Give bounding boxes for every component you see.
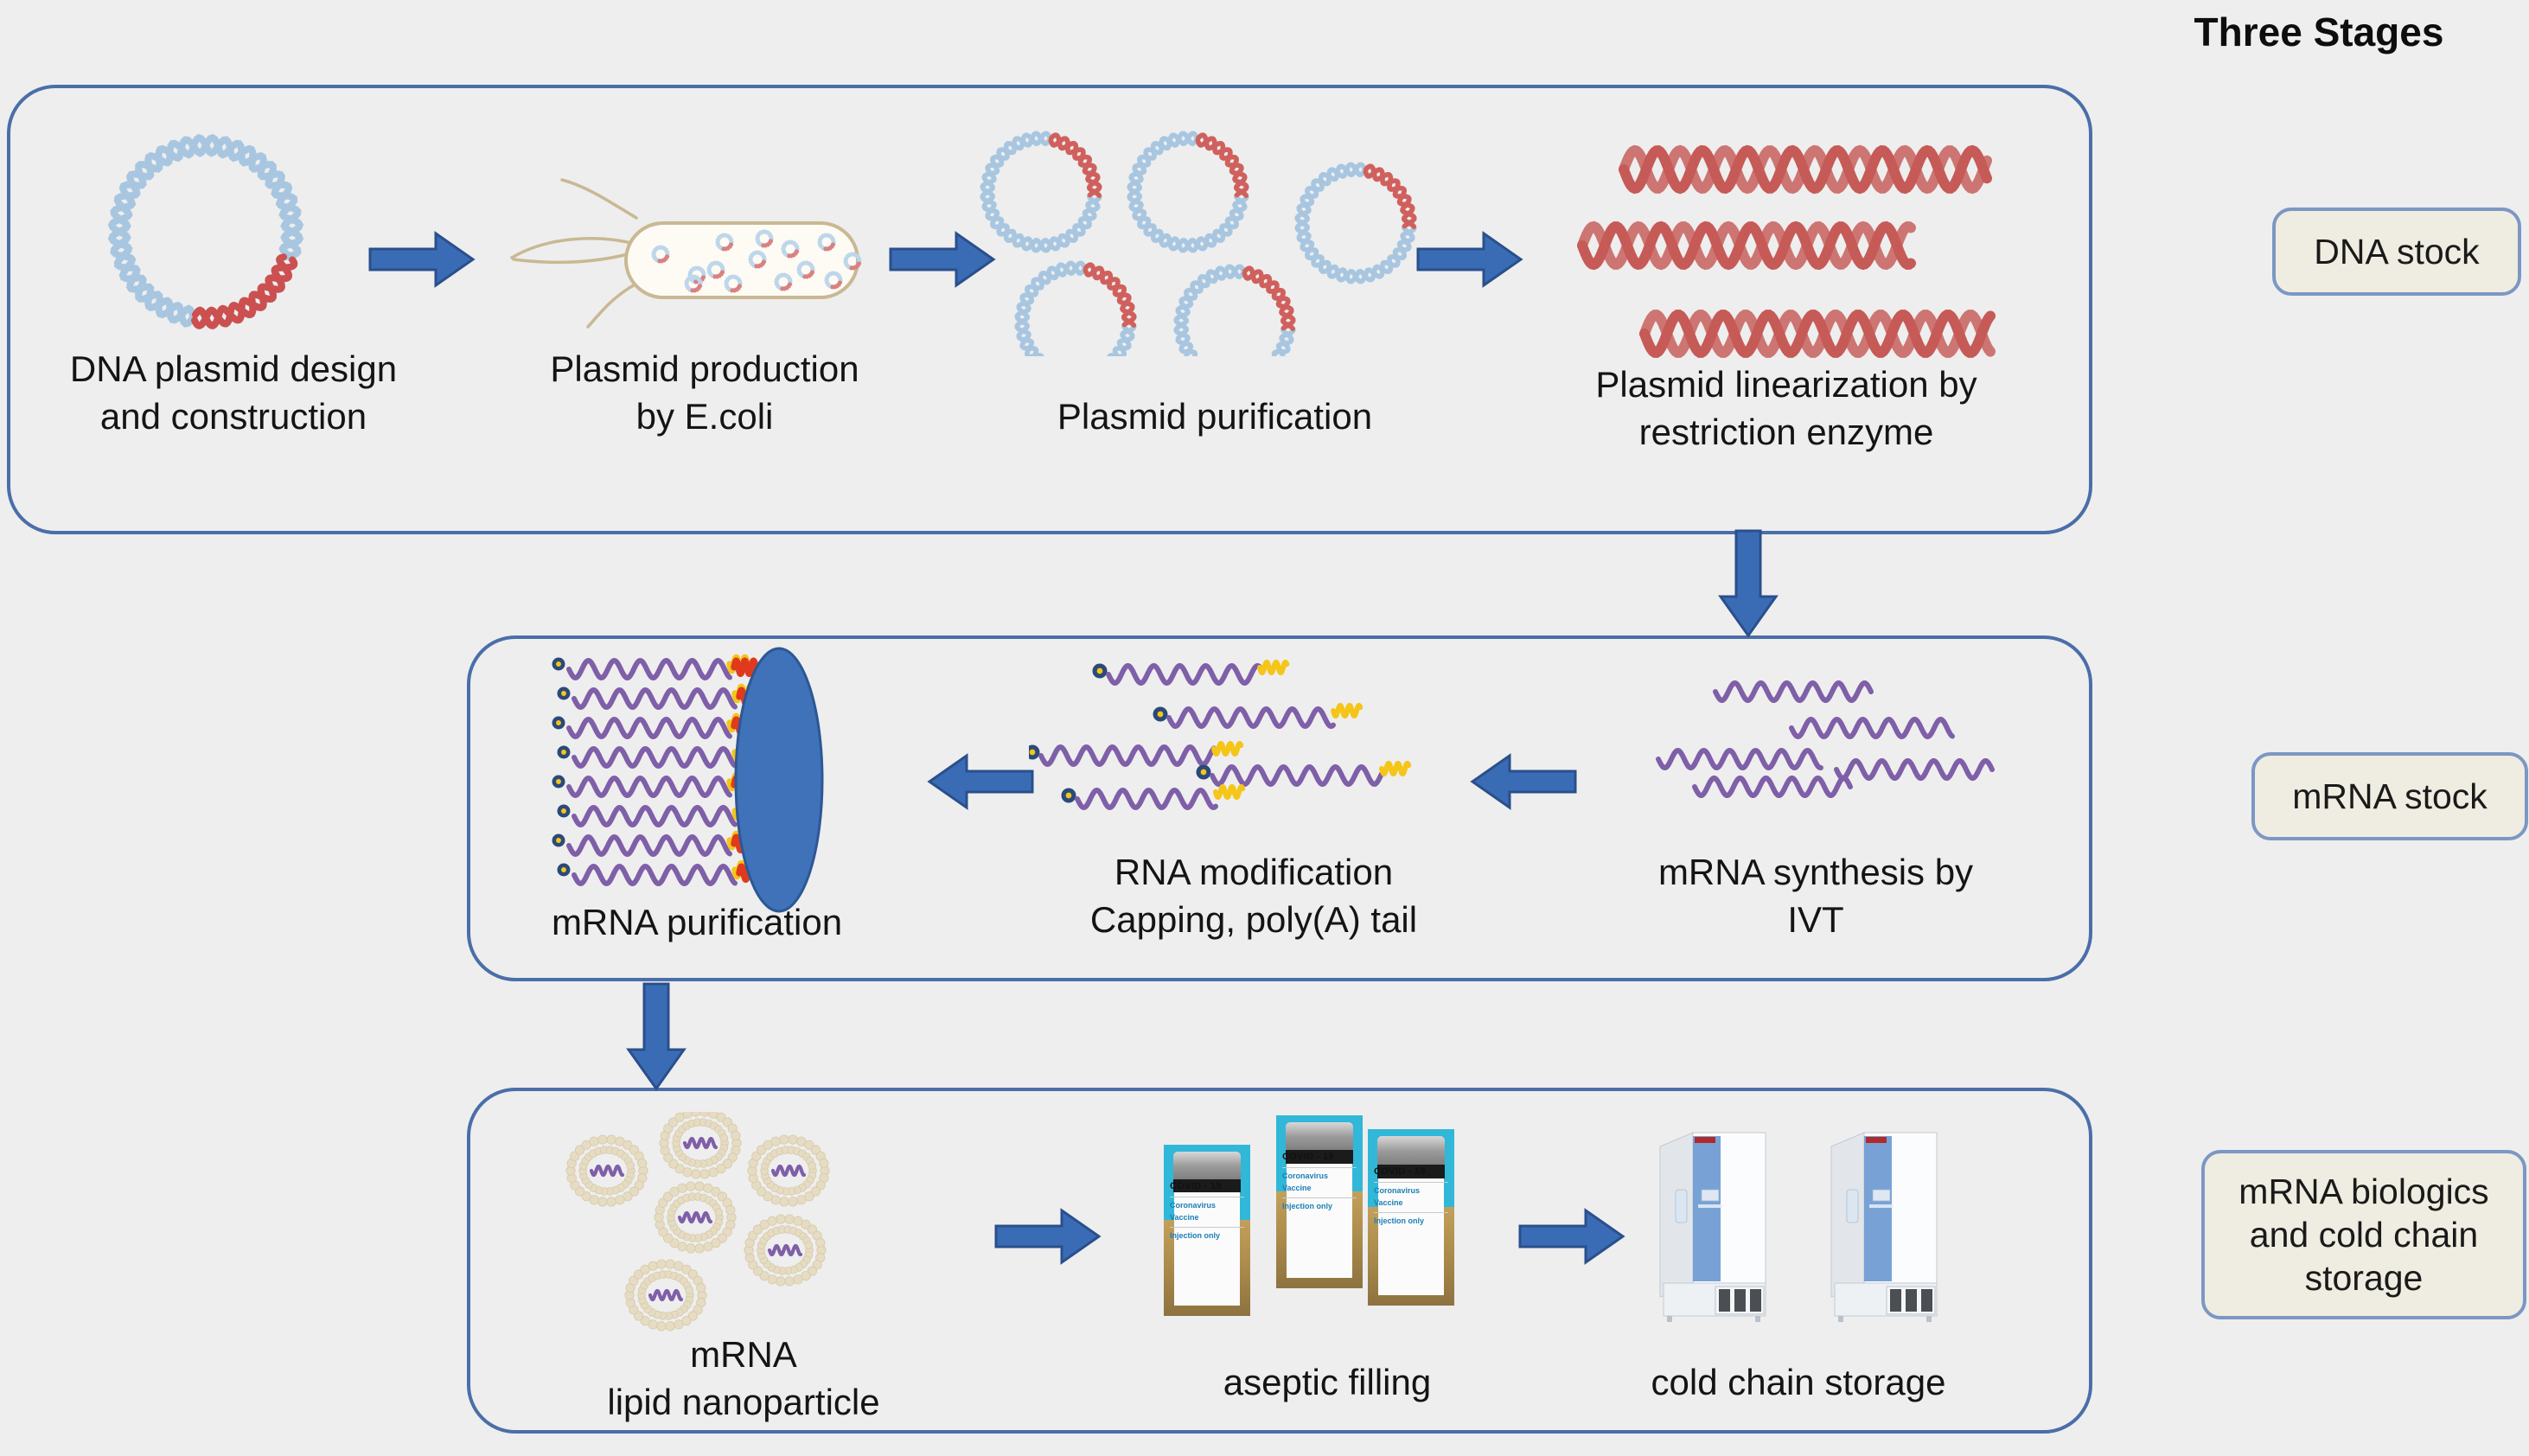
caption-rna-modification: RNA modification Capping, poly(A) tail: [977, 849, 1530, 943]
vial-line-2: Vaccine: [1170, 1212, 1244, 1224]
diagram-canvas: Three Stages DNA stock mRNA stock mRNA b…: [0, 0, 2529, 1456]
capped-mrna-strands-icon: [1029, 659, 1513, 875]
stage-chip-mrna-biologics: mRNA biologics and cold chain storage: [2201, 1150, 2526, 1319]
linear-dna-strands-icon: [1574, 118, 2032, 368]
caption-plasmid-design: DNA plasmid design and construction: [9, 346, 458, 440]
stage-chip-dna-stock: DNA stock: [2272, 208, 2521, 296]
arrow-right-icon-3: [1416, 230, 1523, 289]
ecoli-cell-icon: [498, 152, 904, 351]
mrna-column-binding-icon: [481, 642, 913, 918]
vial-line-2: Vaccine: [1282, 1183, 1357, 1195]
caption-plasmid-production: Plasmid production by E.coli: [493, 346, 916, 440]
arrow-down-icon-1: [1716, 529, 1780, 638]
arrow-down-icon-2: [624, 982, 688, 1091]
caption-lipid-nanoparticle: mRNA lipid nanoparticle: [519, 1331, 968, 1426]
arrow-right-icon-4: [994, 1207, 1102, 1266]
arrow-right-icon-5: [1518, 1207, 1625, 1266]
vial-line-3: Injection only: [1374, 1216, 1448, 1228]
lipid-nanoparticles-icon: [536, 1112, 960, 1345]
caption-aseptic-filling: aseptic filling: [1124, 1359, 1530, 1407]
vial-line-1: Coronavirus: [1374, 1185, 1448, 1197]
caption-plasmid-linearization: Plasmid linearization by restriction enz…: [1518, 361, 2054, 456]
vaccine-vial-2: COVID - 19 Coronavirus Vaccine Injection…: [1276, 1115, 1363, 1288]
vial-title: COVID - 19: [1282, 1150, 1357, 1165]
arrow-left-icon-1: [927, 752, 1034, 811]
vaccine-vial-1: COVID - 19 Coronavirus Vaccine Injection…: [1164, 1145, 1250, 1316]
vial-line-1: Coronavirus: [1282, 1171, 1357, 1183]
ultra-low-freezers-icon: [1625, 1114, 1971, 1340]
vaccine-vial-3: COVID - 19 Coronavirus Vaccine Injection…: [1368, 1129, 1454, 1306]
caption-mrna-purification: mRNA purification: [481, 899, 913, 947]
three-stages-title: Three Stages: [2129, 9, 2509, 55]
vial-title: COVID - 19: [1170, 1179, 1244, 1194]
vial-line-2: Vaccine: [1374, 1197, 1448, 1210]
vial-title: COVID - 19: [1374, 1165, 1448, 1179]
arrow-right-icon-1: [368, 230, 476, 289]
caption-plasmid-purification: Plasmid purification: [960, 393, 1470, 441]
vial-line-1: Coronavirus: [1170, 1200, 1244, 1212]
stage-chip-mrna-stock: mRNA stock: [2251, 752, 2528, 840]
plasmid-cluster-icon: [965, 121, 1475, 356]
arrow-left-icon-2: [1470, 752, 1577, 811]
vaccine-vials-icon: COVID - 19 Coronavirus Vaccine Injection…: [1152, 1110, 1498, 1335]
vial-line-3: Injection only: [1170, 1230, 1244, 1242]
vial-line-3: Injection only: [1282, 1201, 1357, 1213]
circular-plasmid-icon: [76, 119, 335, 344]
caption-mrna-synthesis: mRNA synthesis by IVT: [1591, 849, 2040, 943]
caption-cold-chain-storage: cold chain storage: [1591, 1359, 2006, 1407]
